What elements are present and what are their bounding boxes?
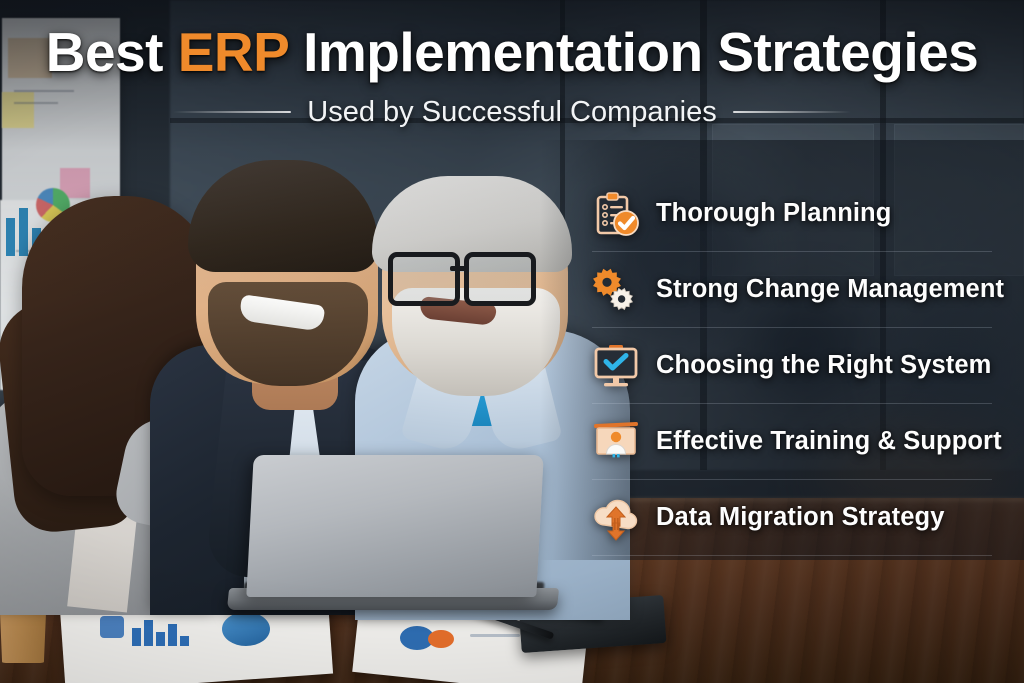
subtitle-rule-left — [173, 111, 291, 113]
list-item[interactable]: Data Migration Strategy — [592, 479, 992, 556]
subtitle-row: Used by Successful Companies — [0, 96, 1024, 129]
page-title: Best ERP Implementation Strategies — [0, 24, 1024, 82]
list-item[interactable]: Choosing the Right System — [592, 327, 992, 403]
paper-bar — [144, 620, 153, 646]
paper-pie-chart — [222, 612, 270, 646]
title-part-2: Implementation Strategies — [288, 21, 978, 83]
eyeglasses-bridge — [450, 266, 466, 271]
presentation-person-icon — [592, 418, 640, 466]
paper-text-line — [470, 634, 520, 637]
paper-chart-shape — [100, 616, 124, 638]
whiteboard-bar — [19, 208, 28, 256]
infographic-canvas: Best ERP Implementation Strategies Used … — [0, 0, 1024, 683]
paper-bar — [132, 628, 141, 646]
list-item[interactable]: Thorough Planning — [592, 176, 992, 251]
list-item-label: Strong Change Management — [656, 275, 1004, 304]
list-item-label: Effective Training & Support — [656, 427, 1002, 456]
title-highlight-erp: ERP — [178, 21, 289, 83]
cloud-transfer-icon — [592, 494, 640, 542]
list-item[interactable]: Effective Training & Support — [592, 403, 992, 479]
paper-pie-chart — [428, 630, 454, 648]
paper-bar — [168, 624, 177, 646]
title-part-1: Best — [46, 21, 178, 83]
subtitle-rule-right — [733, 111, 851, 113]
header: Best ERP Implementation Strategies Used … — [0, 0, 1024, 129]
gears-icon — [592, 266, 640, 314]
paper-bar — [180, 636, 189, 646]
list-item[interactable]: Strong Change Management — [592, 251, 992, 327]
list-item-label: Choosing the Right System — [656, 351, 991, 380]
laptop — [246, 455, 543, 597]
page-subtitle: Used by Successful Companies — [307, 96, 716, 129]
whiteboard-bar — [6, 218, 15, 256]
paper-bar — [156, 632, 165, 646]
eyeglasses-right-lens — [464, 252, 536, 306]
list-item-label: Thorough Planning — [656, 199, 891, 228]
list-item-label: Data Migration Strategy — [656, 503, 945, 532]
strategy-list: Thorough Planning Strong Change Manageme… — [592, 176, 992, 556]
eyeglasses-left-lens — [388, 252, 460, 306]
monitor-check-icon — [592, 342, 640, 390]
clipboard-check-icon — [592, 190, 640, 238]
